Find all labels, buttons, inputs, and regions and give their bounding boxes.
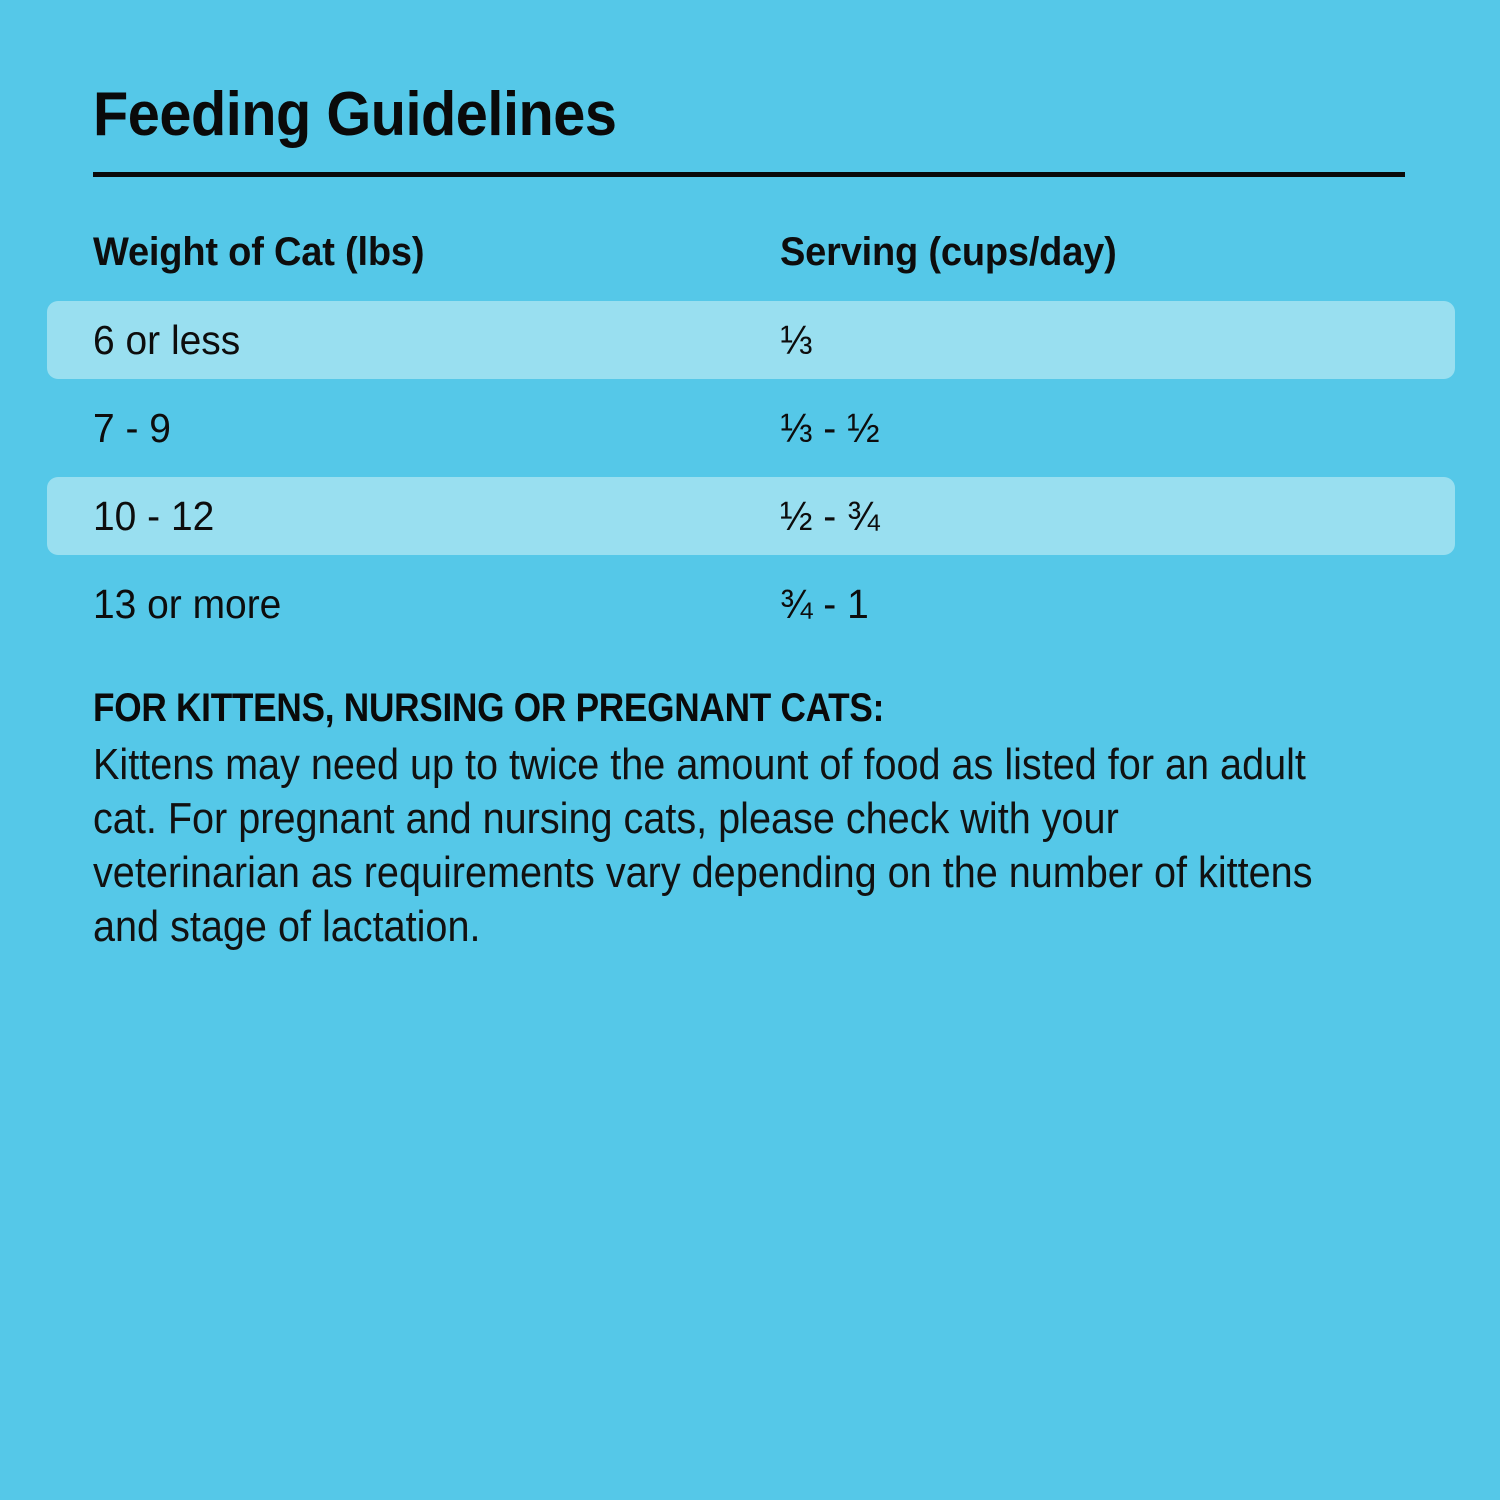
row-highlight-band xyxy=(47,301,1455,379)
cell-weight: 10 - 12 xyxy=(93,477,214,555)
kitten-note-heading: FOR KITTENS, NURSING OR PREGNANT CATS: xyxy=(93,682,1211,734)
table-row: 13 or more ¾ - 1 xyxy=(0,565,1500,653)
table-row: 6 or less ⅓ xyxy=(0,301,1500,389)
cell-serving: ⅓ - ½ xyxy=(780,389,880,467)
cell-serving: ¾ - 1 xyxy=(780,565,869,643)
table-row: 10 - 12 ½ - ¾ xyxy=(0,477,1500,565)
page-title: Feeding Guidelines xyxy=(93,80,616,150)
row-highlight-band xyxy=(47,477,1455,555)
cell-serving: ½ - ¾ xyxy=(780,477,880,555)
cell-weight: 7 - 9 xyxy=(93,389,171,467)
feeding-guidelines-panel: Feeding Guidelines Weight of Cat (lbs) S… xyxy=(0,0,1500,1500)
cell-serving: ⅓ xyxy=(780,301,812,379)
cell-weight: 13 or more xyxy=(93,565,281,643)
kitten-note-body: Kittens may need up to twice the amount … xyxy=(93,738,1335,954)
cell-weight: 6 or less xyxy=(93,301,240,379)
column-header-serving: Serving (cups/day) xyxy=(780,213,1117,291)
kitten-note: FOR KITTENS, NURSING OR PREGNANT CATS: K… xyxy=(93,682,1363,954)
table-header-row: Weight of Cat (lbs) Serving (cups/day) xyxy=(0,213,1500,301)
table-row: 7 - 9 ⅓ - ½ xyxy=(0,389,1500,477)
title-divider xyxy=(93,172,1405,177)
feeding-table: Weight of Cat (lbs) Serving (cups/day) 6… xyxy=(0,213,1500,653)
column-header-weight: Weight of Cat (lbs) xyxy=(93,213,424,291)
